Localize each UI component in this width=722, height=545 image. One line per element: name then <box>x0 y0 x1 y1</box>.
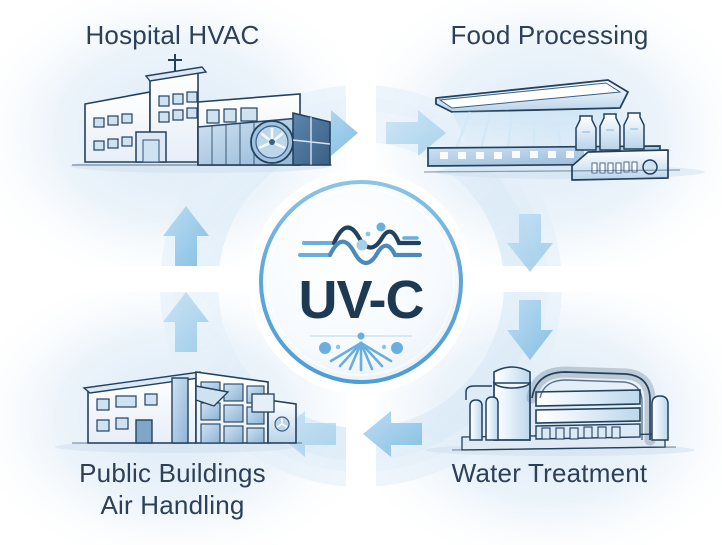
hub-title: UV-C <box>261 269 461 331</box>
bottles-icon <box>576 113 644 150</box>
hvac-fan-icon <box>251 121 293 163</box>
uvc-cycle-infographic: Hospital HVAC Food Processing Public Bui… <box>0 0 722 545</box>
main-tank-icon <box>494 367 530 440</box>
quadrant-label-food-processing: Food Processing <box>377 20 722 52</box>
quadrant-label-water-treatment: Water Treatment <box>377 458 722 490</box>
quadrant-label-hospital-hvac: Hospital HVAC <box>0 20 345 52</box>
quadrant-label-public-buildings: Public Buildings Air Handling <box>0 458 345 521</box>
